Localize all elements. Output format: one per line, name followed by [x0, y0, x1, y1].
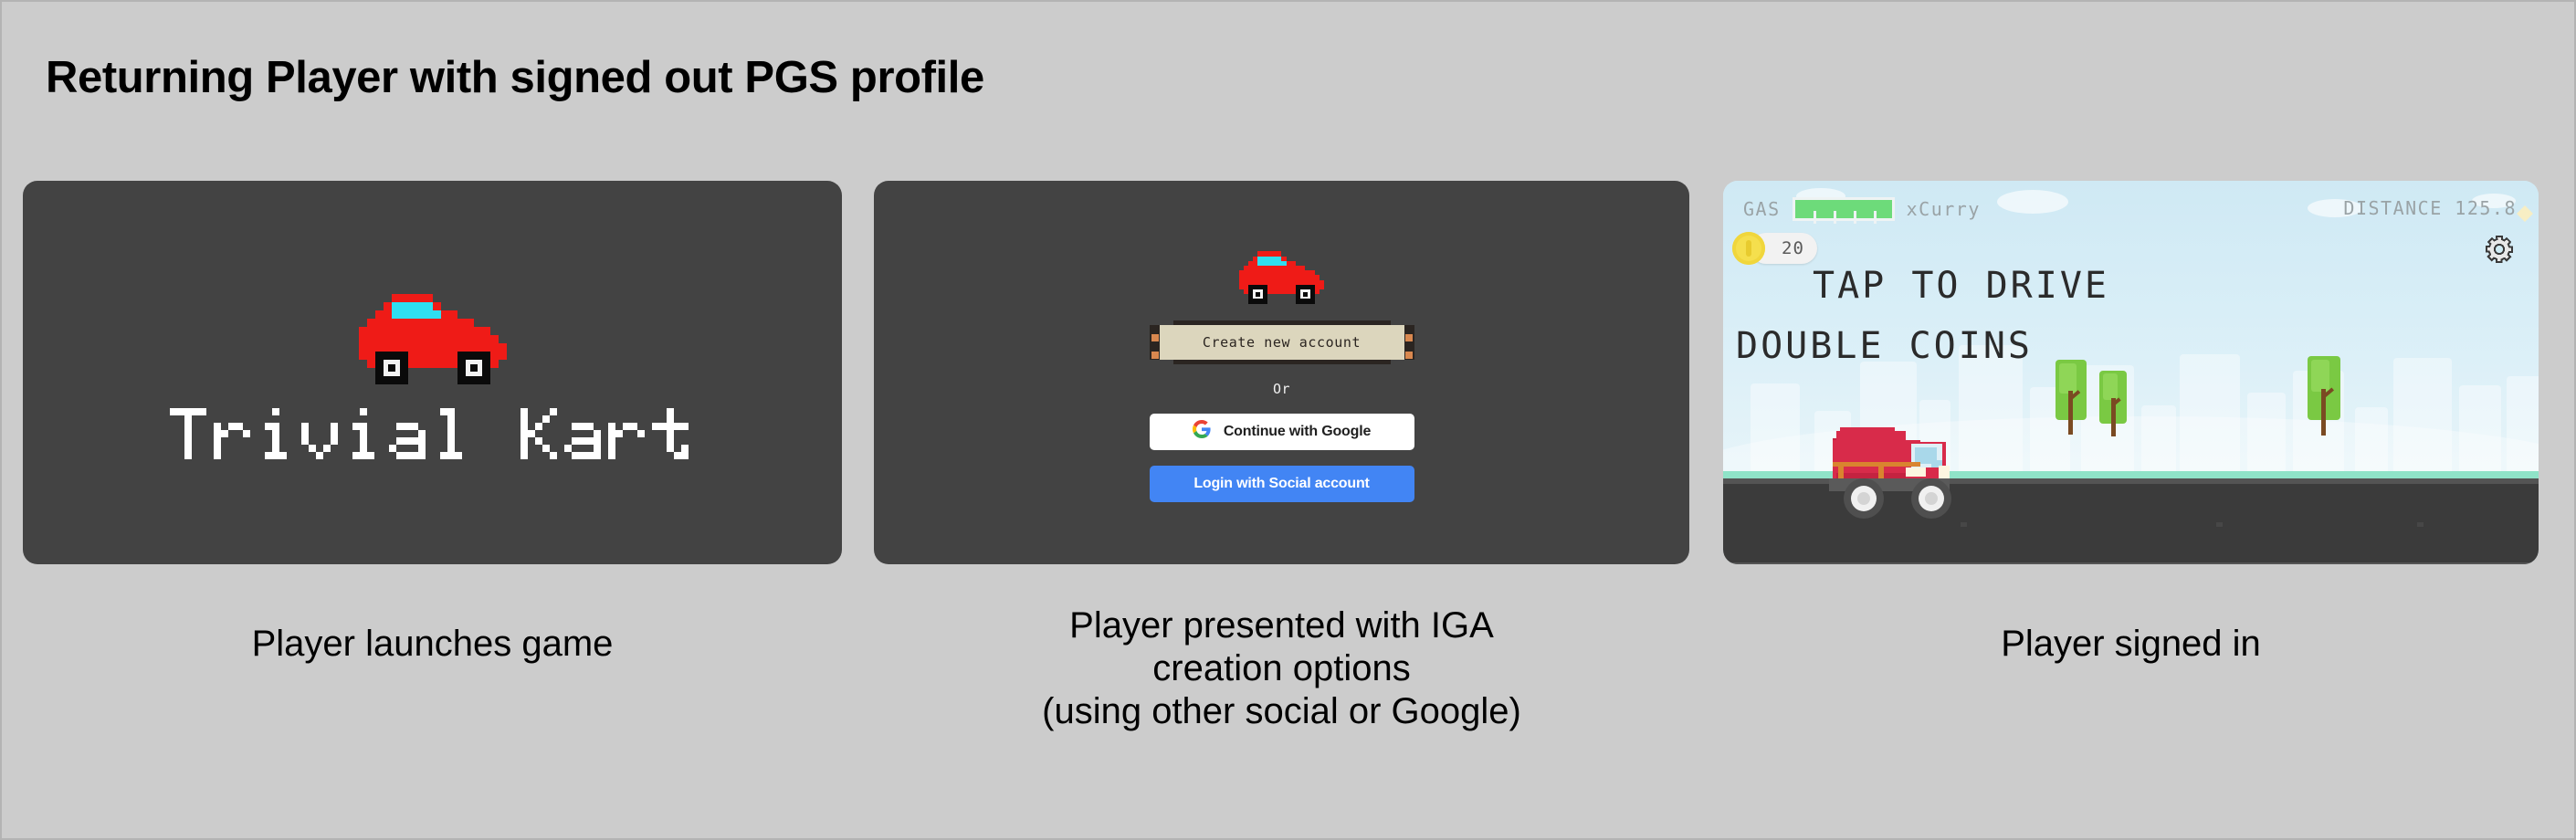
cloud [1997, 190, 2068, 214]
panel-gameplay-signed-in: GAS xCurry DISTANCE 125.8 20 TAP TO DRIV… [1723, 181, 2539, 564]
caption-panel-2: Player presented with IGA creation optio… [874, 604, 1689, 734]
tap-to-drive-overlay: TAP TO DRIVE DOUBLE COINS [1813, 231, 2109, 401]
road-speck [2417, 522, 2424, 527]
road-speck [2216, 522, 2223, 527]
truck-sprite [1824, 425, 2017, 528]
continue-with-google-label: Continue with Google [1224, 424, 1371, 440]
gas-notch [1814, 211, 1816, 224]
pixel-car-icon [342, 286, 523, 384]
gas-notch [1854, 211, 1856, 224]
building-silhouette [2180, 354, 2240, 471]
panel-signin-options: Create new account Or Continue with Goog… [874, 181, 1689, 564]
building-silhouette [2459, 385, 2501, 471]
game-scene: GAS xCurry DISTANCE 125.8 20 TAP TO DRIV… [1723, 181, 2539, 564]
coin-count-value: 20 [1782, 238, 1804, 258]
caption-panel-1: Player launches game [23, 623, 842, 666]
game-title-pixel-text [170, 408, 696, 459]
building-silhouette [2507, 376, 2539, 471]
slide-canvas: Returning Player with signed out PGS pro… [0, 0, 2576, 840]
continue-with-google-button[interactable]: Continue with Google [1150, 414, 1414, 450]
page-title: Returning Player with signed out PGS pro… [46, 52, 984, 103]
building-silhouette [2393, 358, 2452, 471]
or-divider-label: Or [1273, 381, 1290, 397]
google-g-icon [1193, 420, 1211, 443]
panels-row: Create new account Or Continue with Goog… [2, 181, 2576, 564]
gas-notch [1874, 211, 1877, 224]
login-with-social-account-button[interactable]: Login with Social account [1150, 466, 1414, 502]
building-silhouette [2355, 407, 2388, 471]
create-new-account-button[interactable]: Create new account [1150, 320, 1414, 364]
panel-launch-screen [23, 181, 842, 564]
building-silhouette [2141, 405, 2176, 471]
hud-gas-row: GAS xCurry [1743, 197, 1981, 221]
building-silhouette [2247, 393, 2286, 471]
gas-label: GAS [1743, 198, 1781, 220]
player-name-label: xCurry [1907, 198, 1981, 220]
building-silhouette [1751, 383, 1800, 471]
distance-readout: DISTANCE 125.8 [2343, 197, 2517, 219]
login-with-social-account-label: Login with Social account [1193, 476, 1369, 492]
gas-meter [1793, 197, 1895, 221]
gear-icon[interactable] [2484, 234, 2515, 265]
coin-icon [1732, 232, 1765, 265]
caption-panel-3: Player signed in [1723, 623, 2539, 666]
pixel-car-icon [1229, 247, 1333, 303]
overlay-line-1: TAP TO DRIVE [1813, 265, 2109, 307]
create-new-account-label: Create new account [1150, 320, 1414, 364]
overlay-line-2: DOUBLE COINS [1736, 328, 2109, 364]
tree-sprite [2308, 356, 2340, 451]
sparkle-icon [2517, 197, 2533, 214]
gas-notch [1834, 211, 1836, 224]
